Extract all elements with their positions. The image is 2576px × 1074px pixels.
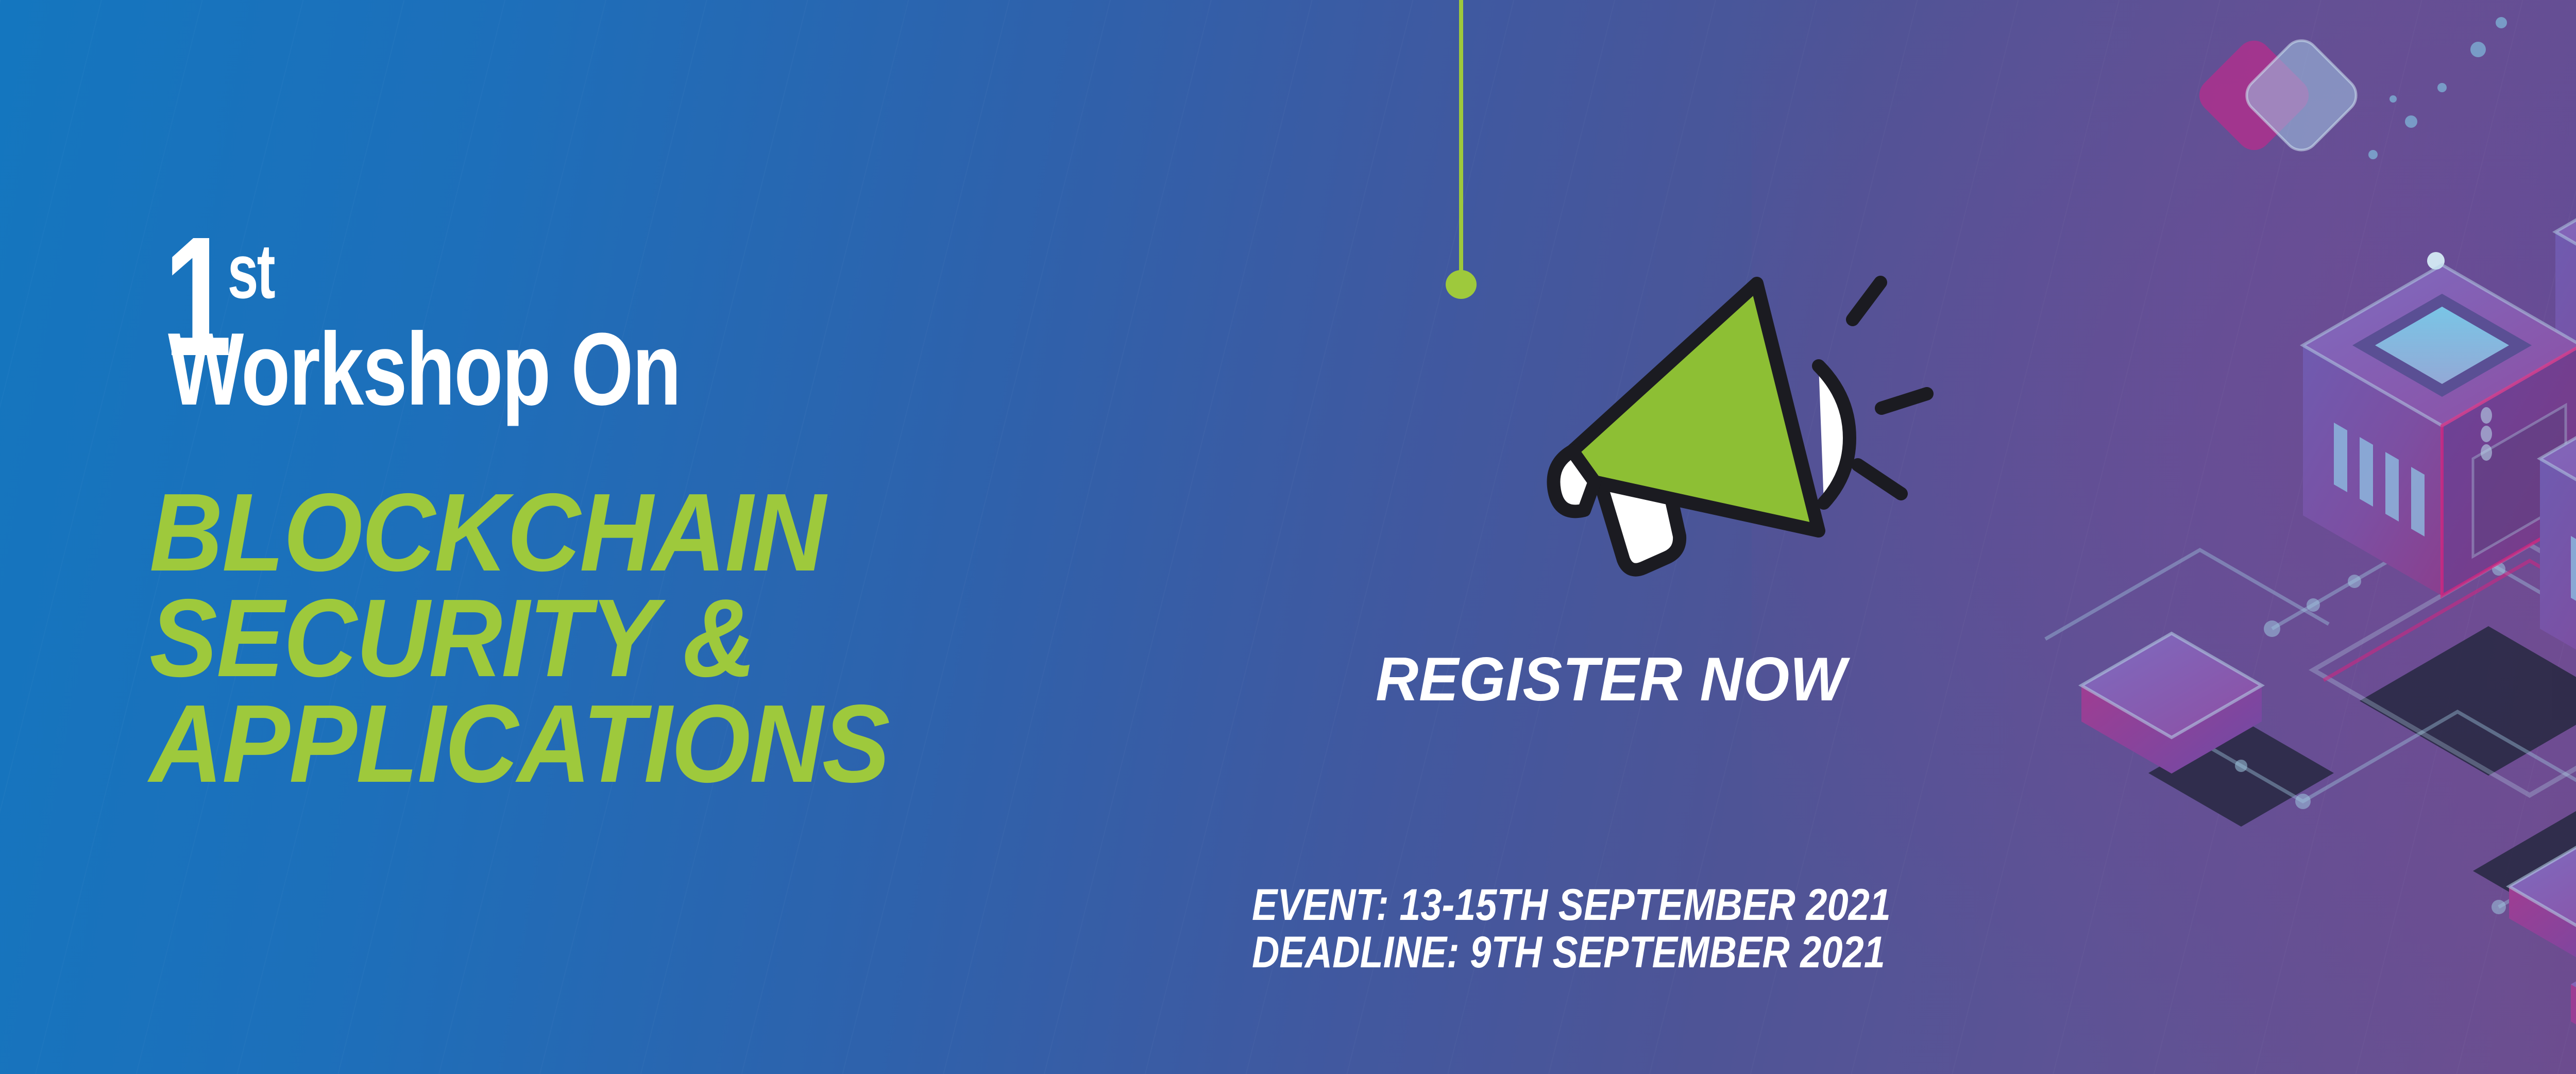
title-line-3: APPLICATIONS	[149, 691, 889, 796]
register-now-button[interactable]: REGISTER NOW	[1376, 648, 1846, 710]
event-date: EVENT: 13-15TH SEPTEMBER 2021	[1252, 881, 1891, 929]
page-subtitle: Workshop On	[168, 321, 680, 418]
ordinal-suffix: st	[228, 228, 274, 314]
pin-line-vertical	[1459, 0, 1463, 278]
event-banner: 1st Workshop On BLOCKCHAIN SECURITY & AP…	[0, 0, 2576, 1074]
green-pin-dot-top	[1446, 270, 1477, 299]
headline-block: 1st Workshop On BLOCKCHAIN SECURITY & AP…	[0, 0, 1236, 1074]
isometric-blockchain-illustration	[1984, 0, 2576, 1074]
page-title: BLOCKCHAIN SECURITY & APPLICATIONS	[149, 479, 889, 796]
title-line-2: SECURITY &	[149, 585, 889, 691]
deadline-date: DEADLINE: 9TH SEPTEMBER 2021	[1252, 929, 1891, 976]
megaphone-icon	[1489, 222, 2004, 634]
event-dates: EVENT: 13-15TH SEPTEMBER 2021 DEADLINE: …	[1252, 881, 1891, 976]
title-line-1: BLOCKCHAIN	[149, 479, 889, 585]
